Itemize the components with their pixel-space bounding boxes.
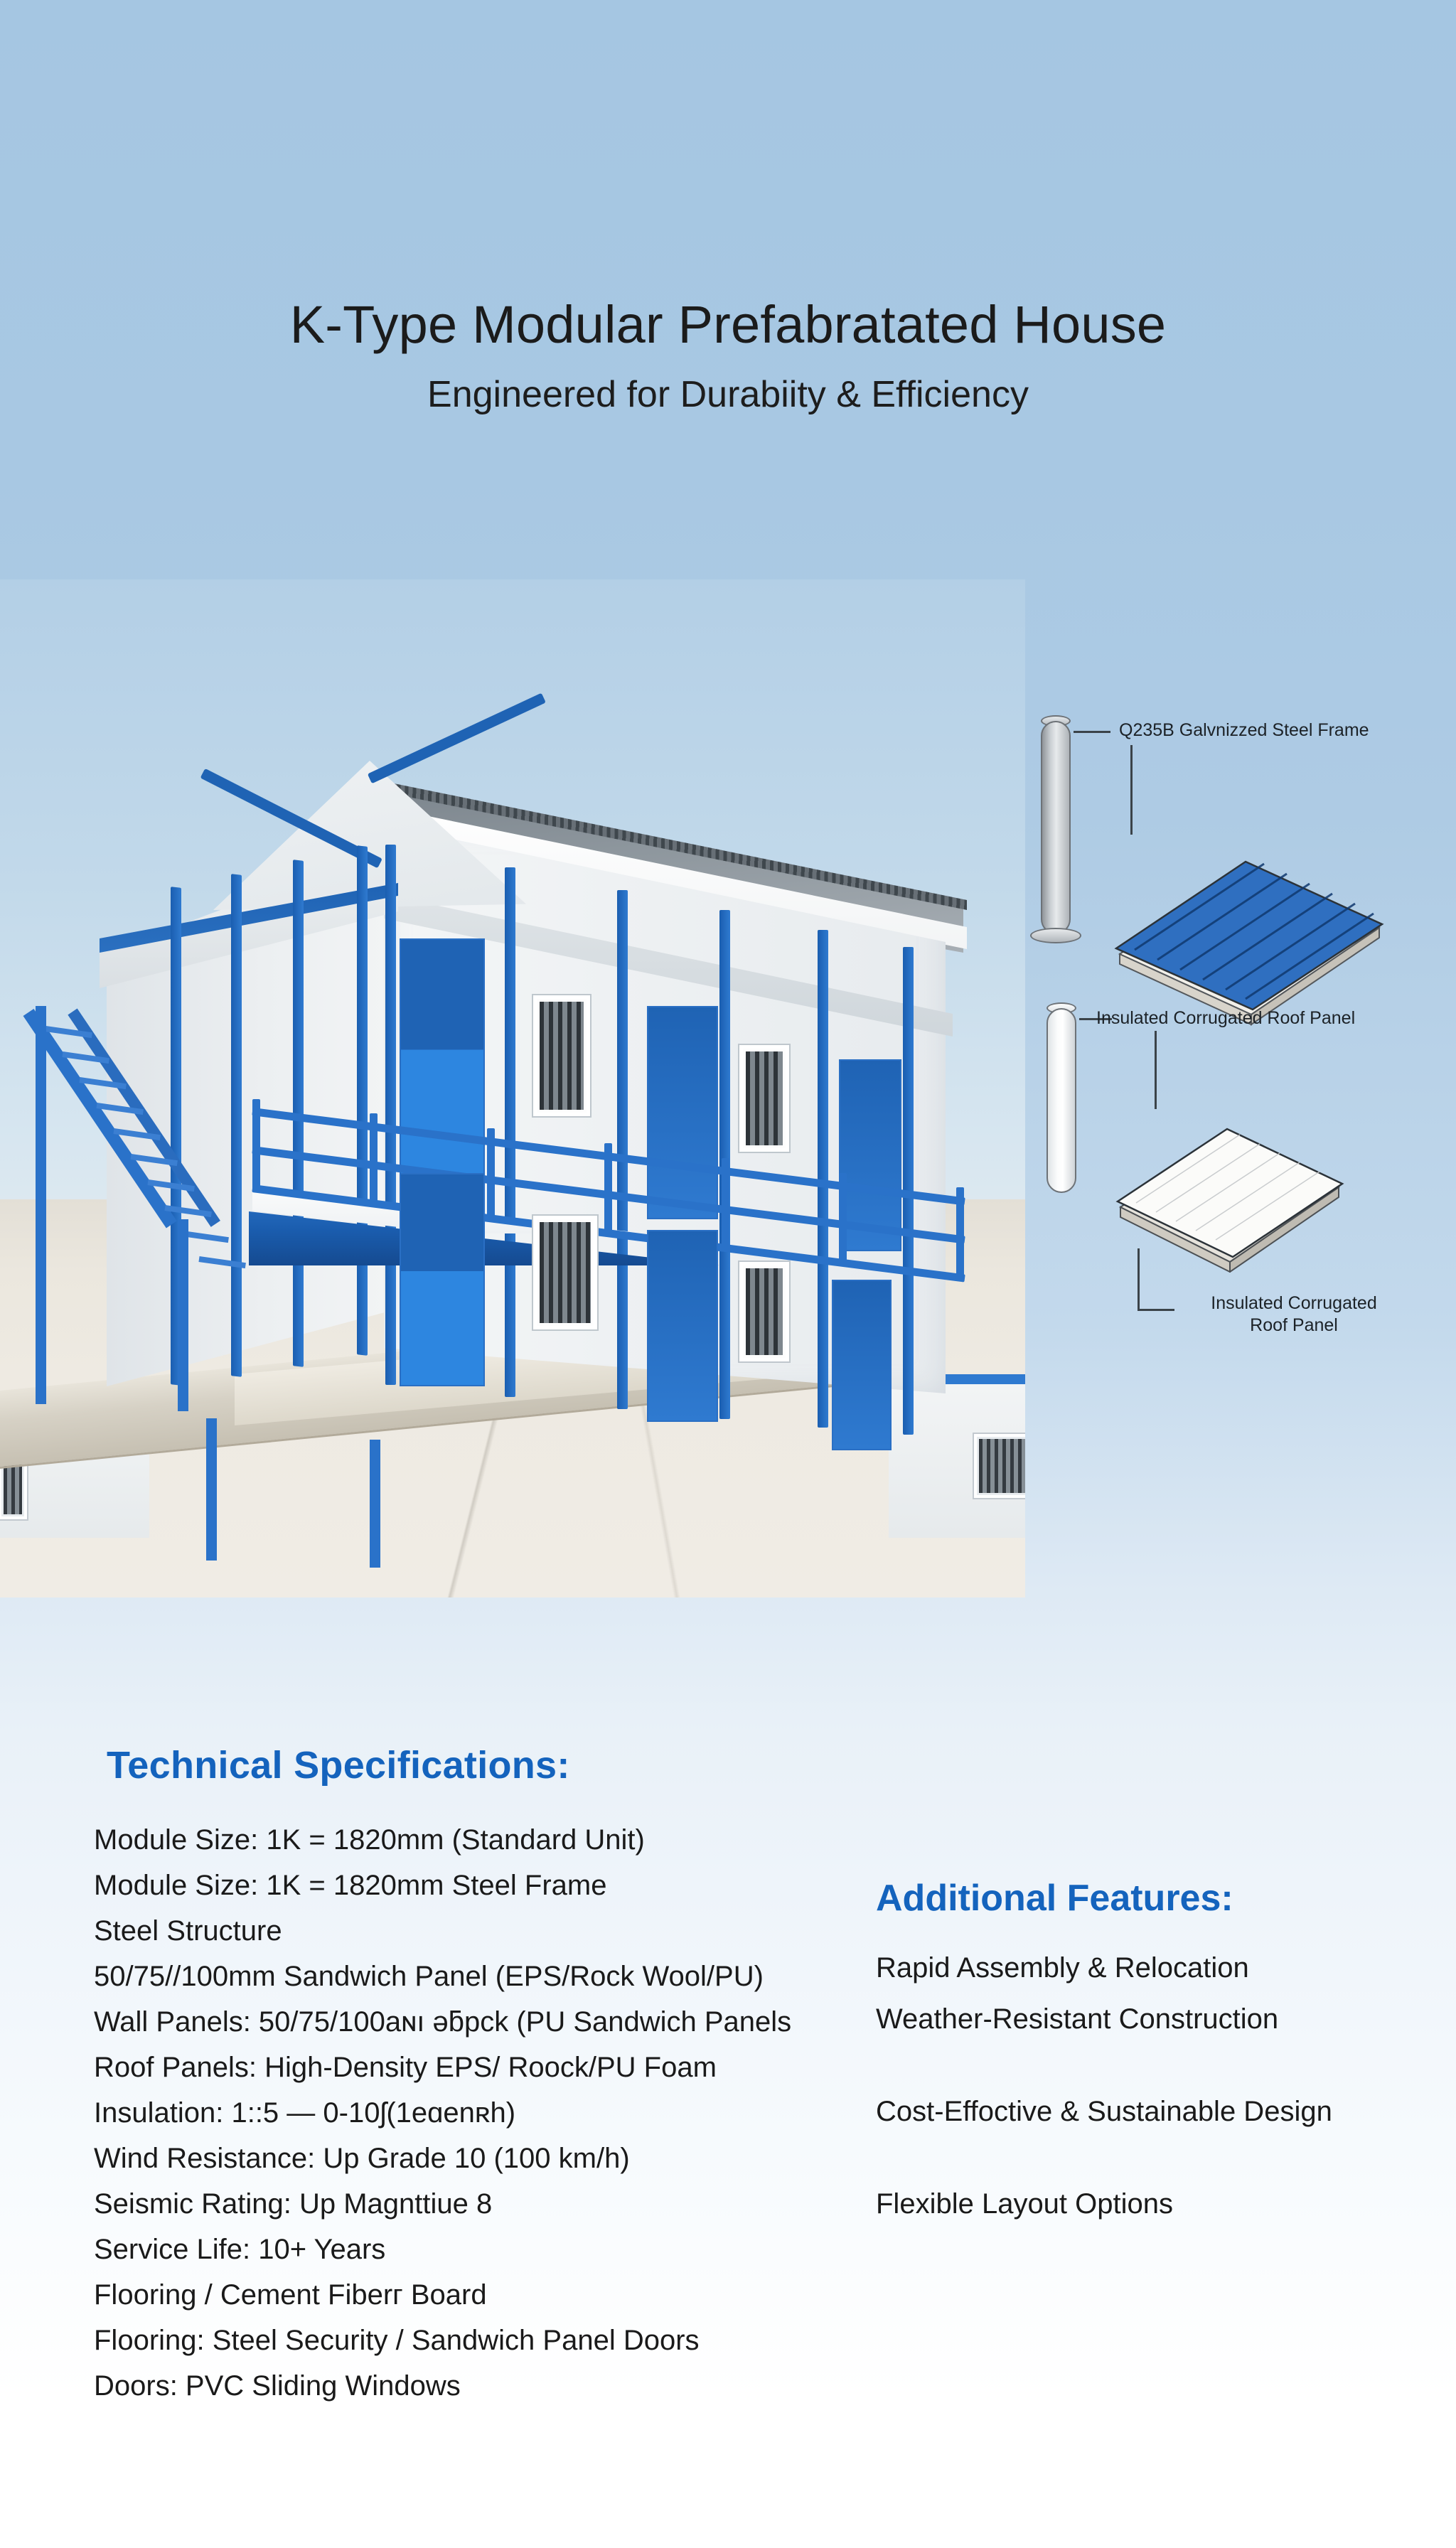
railing-post — [604, 1143, 612, 1236]
white-roof-panel-graphic — [1093, 1081, 1392, 1273]
page-title: K-Type Modular Prefabratated House — [290, 297, 1167, 353]
lower-window-2 — [739, 1262, 789, 1361]
spec-item: Insulation: 1::5 — 0-10ʃ(1eɑenʀh) — [94, 2099, 862, 2127]
feature-item: Cost-Effoctive & Sustainable Design — [876, 2097, 1430, 2126]
spec-item: 50/75//100mm Sandwich Panel (EPS/Rock Wo… — [94, 1962, 862, 1991]
spec-item: Roof Panels: High-Density EPS/ Roock/PU … — [94, 2053, 862, 2082]
additional-features-list: Rapid Assembly & Relocation Weather-Resi… — [876, 1954, 1430, 2218]
spec-item: Wall Panels: 50/75/100аɴı ǝƃpck (PU Sand… — [94, 2008, 862, 2036]
railing-post — [956, 1187, 964, 1280]
railing-post — [722, 1158, 729, 1251]
spec-item: Wind Resistance: Up Grade 10 (100 km/h) — [94, 2144, 862, 2173]
lower-door-1 — [400, 1173, 485, 1386]
feature-item: Weather-Resistant Construction — [876, 2005, 1430, 2033]
spec-item: Seismic Rating: Up Magnttiue 8 — [94, 2190, 862, 2218]
stair-step — [198, 1256, 245, 1268]
neighbor-window — [974, 1434, 1025, 1498]
spec-item: Doors: PVC Sliding Windows — [94, 2372, 862, 2400]
stair-leg — [178, 1219, 188, 1411]
label-roof-panel-bottom: Insulated Corrugated Roof Panel — [1187, 1292, 1401, 1337]
spec-item: Steel Structure — [94, 1917, 862, 1945]
exploded-component-diagram: Q235B Galvnizzed Steel Frame Insulated C… — [1025, 697, 1456, 1379]
exterior-staircase — [28, 1006, 263, 1425]
roof-panel-rod — [1046, 1008, 1076, 1193]
page-header: K-Type Modular Prefabratated House Engin… — [0, 0, 1456, 579]
spec-item: Module Size: 1K = 1820mm Steel Frame — [94, 1871, 862, 1900]
lower-door-3 — [832, 1280, 892, 1450]
leader-line-roof-panel-bottom-v — [1137, 1248, 1140, 1311]
leader-line-steel-frame — [1074, 731, 1110, 733]
label-roof-panel-bottom-line1: Insulated Corrugated — [1211, 1293, 1376, 1313]
steel-rod-base — [1030, 928, 1081, 943]
leader-line-roof-panel-bottom-h — [1137, 1309, 1174, 1311]
feature-item: Rapid Assembly & Relocation — [876, 1954, 1430, 1982]
building-support-column — [370, 1440, 380, 1568]
product-photo — [0, 579, 1025, 1597]
label-roof-panel-top: Insulated Corrugated Roof Panel — [1096, 1007, 1355, 1029]
specifications-heading: Technical Specifications: — [107, 1743, 570, 1787]
railing-post — [370, 1113, 378, 1206]
spec-item: Flooring: Steel Security / Sandwich Pane… — [94, 2326, 862, 2355]
spec-item: Service Life: 10+ Years — [94, 2235, 862, 2264]
balcony-railing — [252, 1066, 967, 1230]
specifications-list: Module Size: 1K = 1820mm (Standard Unit)… — [94, 1826, 862, 2417]
label-roof-panel-bottom-line2: Roof Panel — [1250, 1315, 1338, 1335]
stair-leg — [36, 1006, 46, 1404]
spec-item: Module Size: 1K = 1820mm (Standard Unit) — [94, 1826, 862, 1854]
feature-item: Flexible Layout Options — [876, 2190, 1430, 2218]
stair-step — [181, 1231, 228, 1243]
steel-frame-rod — [1041, 721, 1071, 934]
page-subtitle: Engineered for Durabiity & Efficiency — [427, 375, 1029, 414]
blue-sandwich-panel-graphic — [1081, 796, 1436, 1031]
lower-window-1 — [533, 1216, 597, 1329]
spec-item: Flooring / Cement Fiberг Board — [94, 2281, 862, 2309]
railing-post — [839, 1173, 847, 1265]
railing-post — [487, 1128, 495, 1221]
lower-door-2 — [647, 1230, 718, 1422]
additional-features-heading: Additional Features: — [876, 1877, 1233, 1920]
label-steel-frame: Q235B Galvnizzed Steel Frame — [1119, 719, 1369, 742]
building-support-column — [206, 1418, 217, 1561]
